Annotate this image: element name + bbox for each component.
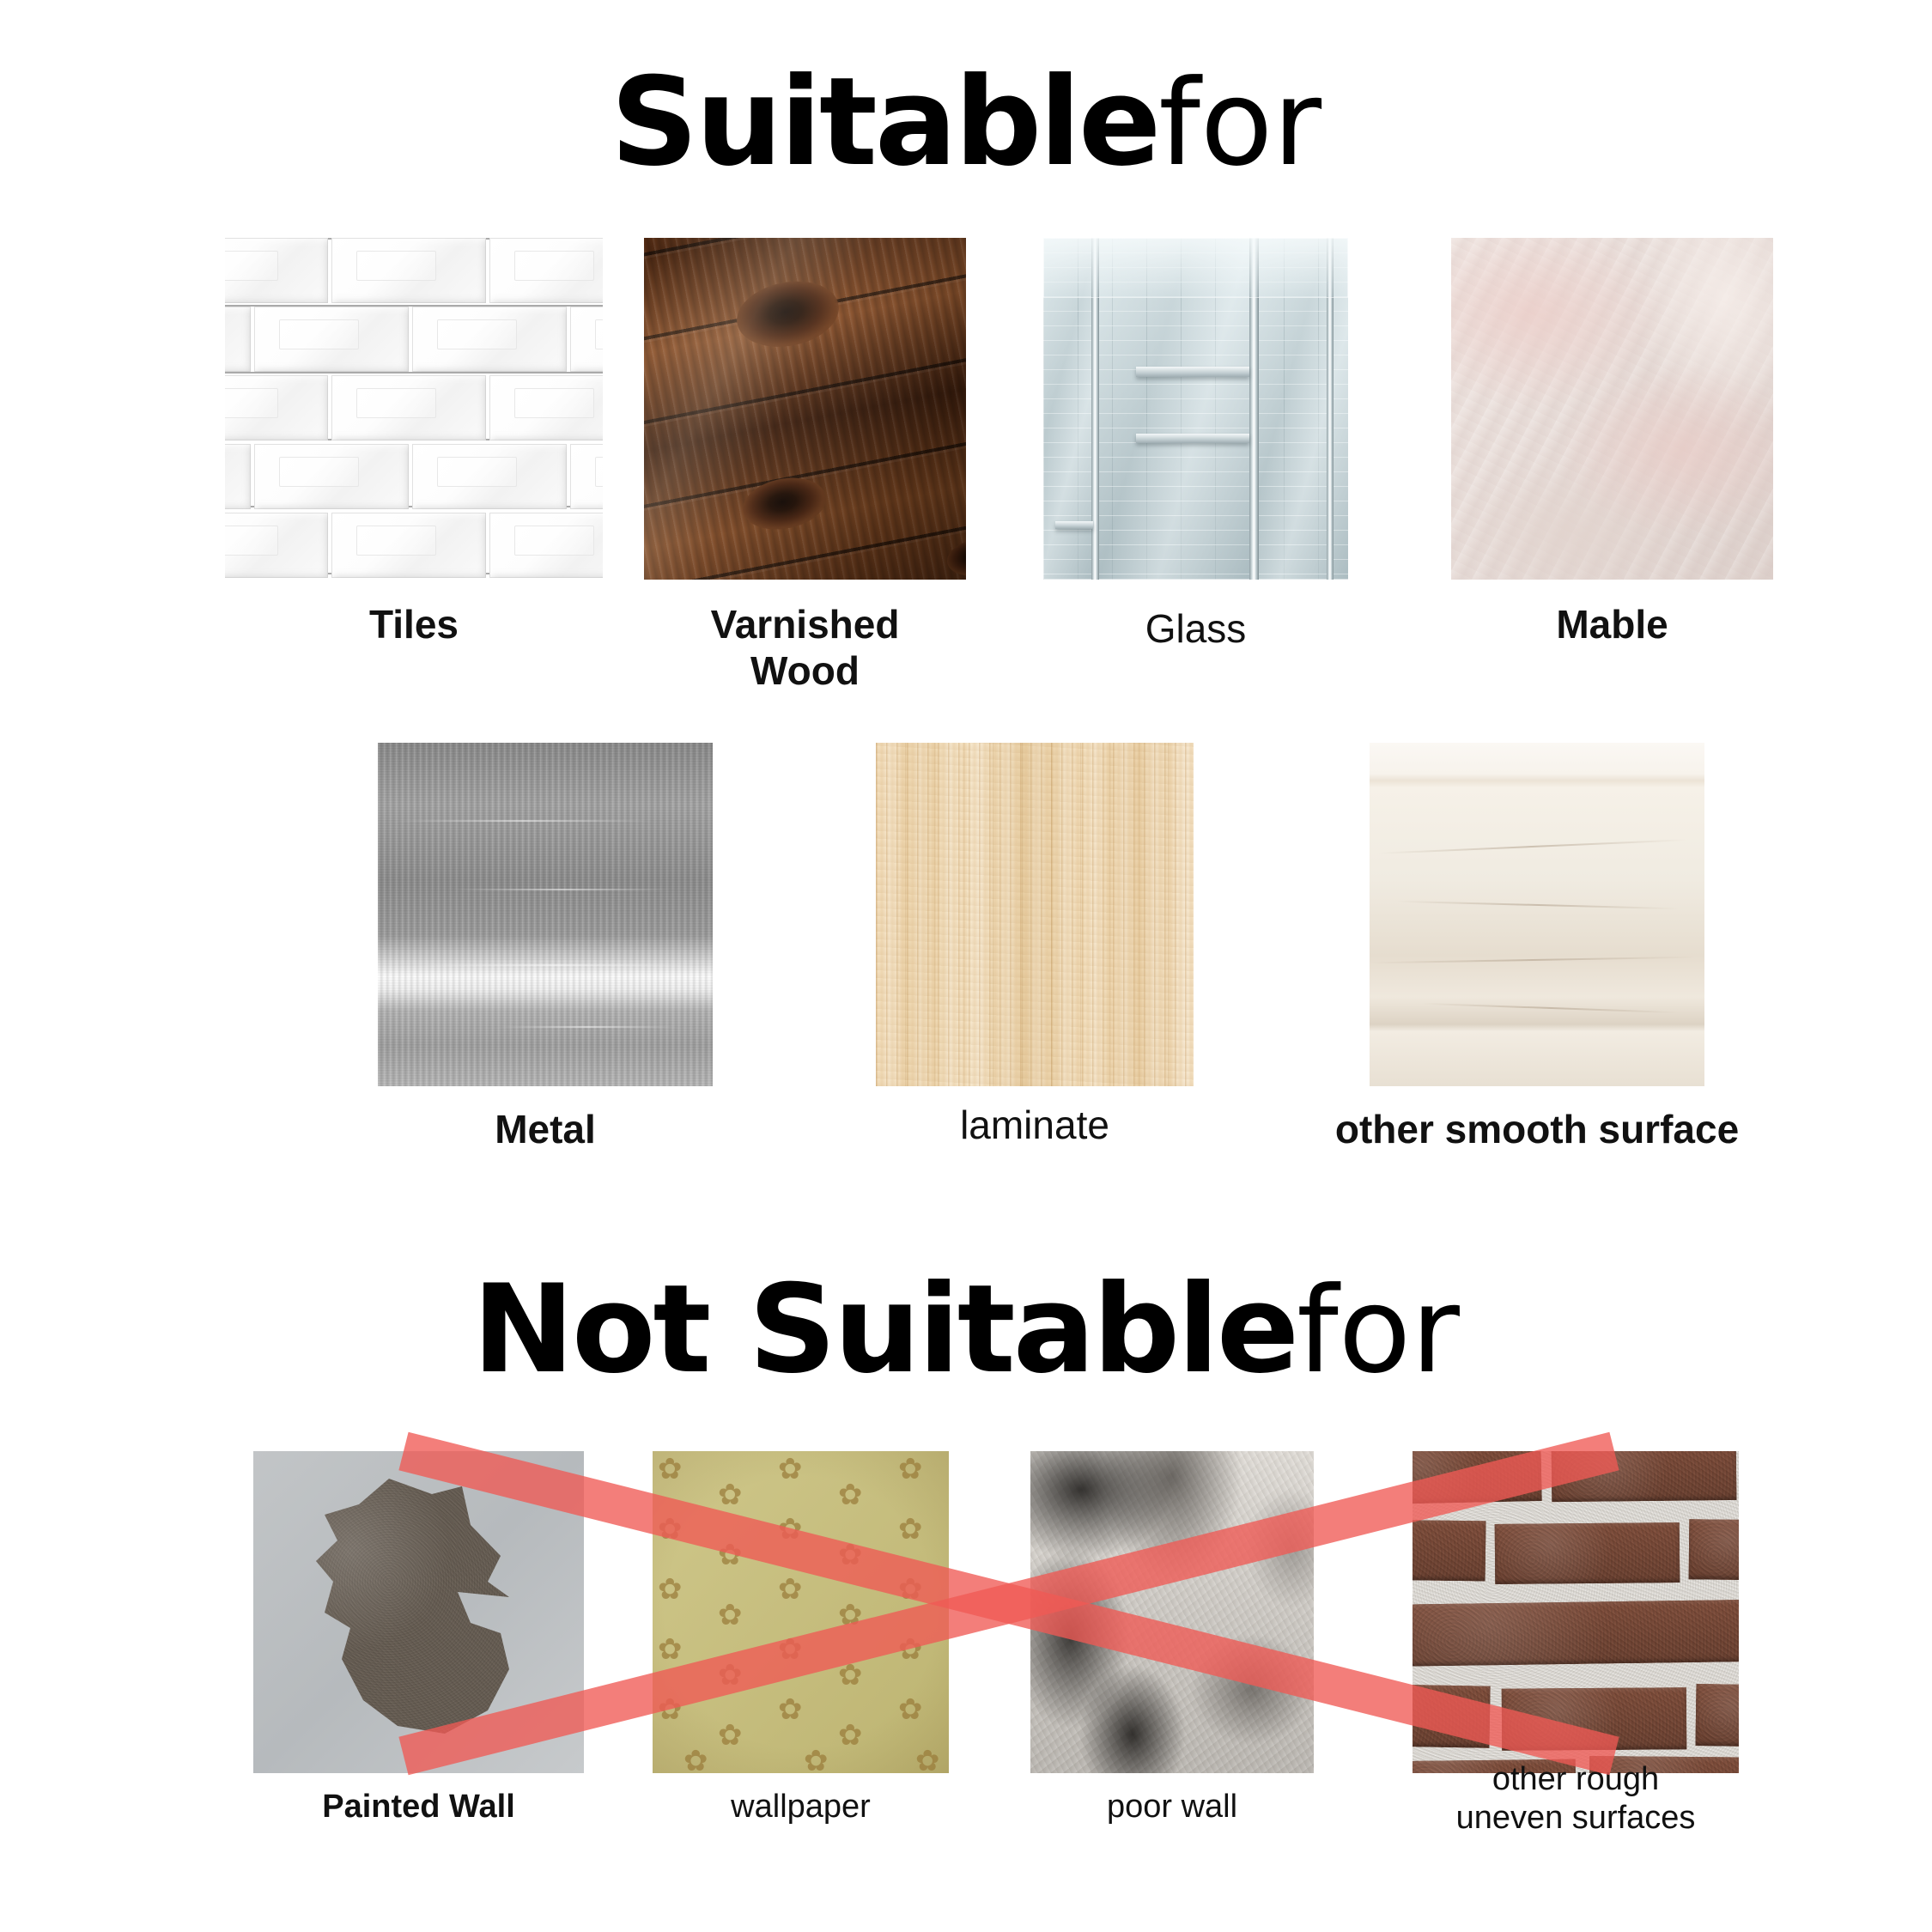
caption-wallpaper: wallpaper (653, 1788, 949, 1826)
not-suitable-heading-bold: Not Suitable (472, 1259, 1297, 1400)
swatch-metal (378, 743, 713, 1086)
suitable-heading: Suitablefor (0, 62, 1932, 184)
suitable-heading-bold: Suitable (611, 52, 1158, 193)
swatch-varnished-wood (644, 238, 966, 580)
swatch-other-rough-uneven-surfaces (1413, 1451, 1739, 1773)
caption-glass: Glass (1043, 605, 1348, 652)
swatch-glass (1043, 238, 1348, 580)
swatch-other-smooth-surface (1370, 743, 1704, 1086)
caption-laminate: laminate (876, 1102, 1194, 1148)
swatch-mable (1451, 238, 1773, 580)
caption-mable: Mable (1451, 601, 1773, 647)
swatch-painted-wall (253, 1451, 584, 1773)
suitable-heading-light: for (1158, 54, 1321, 192)
caption-varnished-wood: Varnished Wood (618, 601, 992, 695)
swatch-wallpaper: ✿ ✿ ✿ ✿ ✿ ✿ ✿ ✿ ✿ ✿ ✿ ✿ ✿ ✿ ✿ ✿ ✿ ✿ ✿ ✿ … (653, 1451, 949, 1773)
swatch-laminate (876, 743, 1194, 1086)
swatch-tiles (225, 238, 603, 580)
not-suitable-heading: Not Suitablefor (0, 1269, 1932, 1391)
caption-tiles: Tiles (225, 601, 603, 647)
caption-painted-wall: Painted Wall (253, 1788, 584, 1826)
caption-other-smooth-surface: other smooth surface (1262, 1106, 1812, 1152)
swatch-poor-wall (1030, 1451, 1314, 1773)
caption-poor-wall: poor wall (1030, 1788, 1314, 1826)
caption-metal: Metal (378, 1106, 713, 1152)
not-suitable-heading-light: for (1297, 1261, 1460, 1400)
caption-other-rough-uneven-surfaces: other rough uneven surfaces (1391, 1760, 1760, 1838)
